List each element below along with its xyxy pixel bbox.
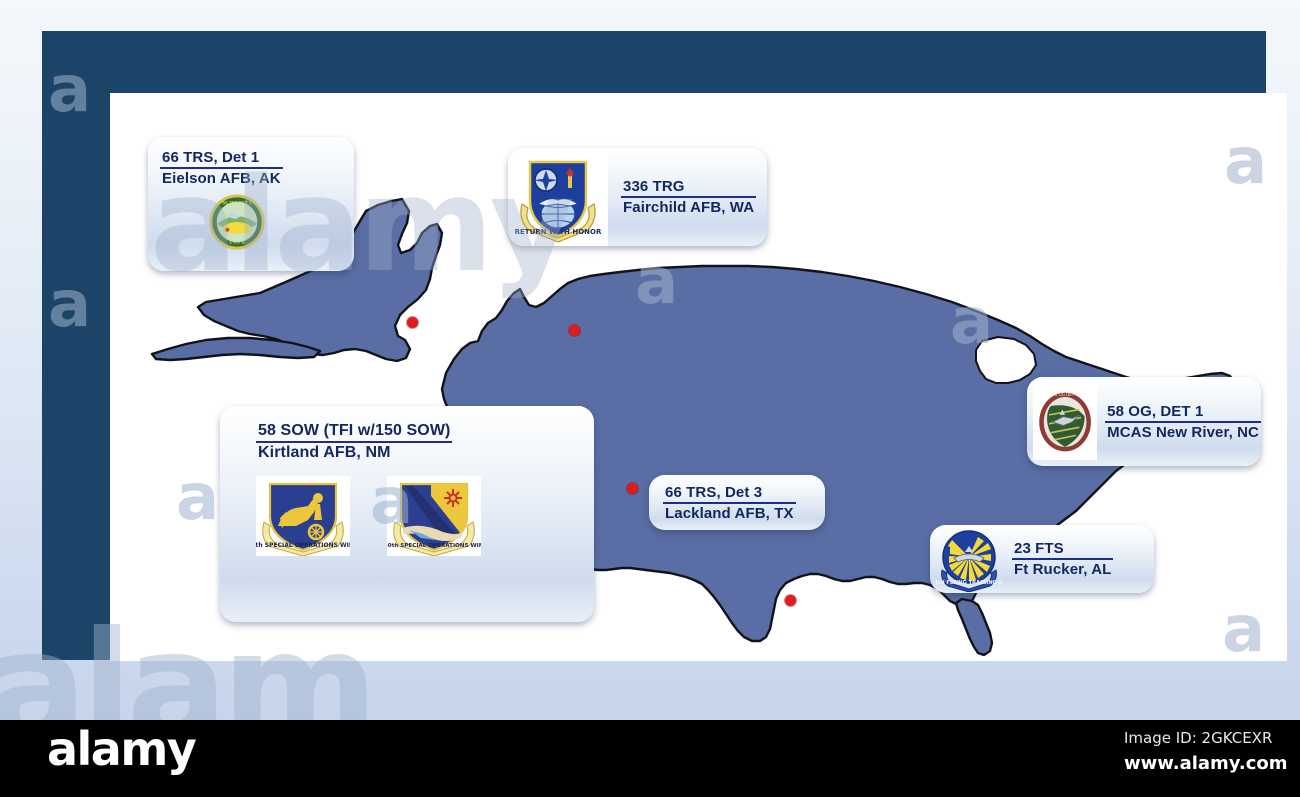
callout-eielson-text: 66 TRS, Det 1 Eielson AFB, AK bbox=[160, 149, 283, 187]
callout-kirtland-text: 58 SOW (TFI w/150 SOW) Kirtland AFB, NM bbox=[256, 422, 452, 462]
poster-frame: 66 TRS, Det 1 Eielson AFB, AK 66 TRS DET… bbox=[42, 31, 1266, 660]
svg-text:58th SPECIAL OPERATIONS WING: 58th SPECIAL OPERATIONS WING bbox=[256, 542, 350, 549]
alamy-url-label: www.alamy.com bbox=[1124, 753, 1288, 774]
callout-ft-rucker-location: Ft Rucker, AL bbox=[1012, 560, 1113, 578]
marker-eielson-afb-ak bbox=[407, 317, 418, 328]
image-id-label: Image ID: 2GKCEXR bbox=[1124, 729, 1272, 747]
poster-stage: 66 TRS, Det 1 Eielson AFB, AK 66 TRS DET… bbox=[0, 0, 1300, 720]
23-fts-emblem: 23rd FLYING TRAINING SQ bbox=[936, 526, 1002, 592]
callout-lackland-unit: 66 TRS, Det 3 bbox=[663, 484, 796, 504]
svg-text:E A F B: E A F B bbox=[229, 240, 244, 246]
callout-ft-rucker-unit: 23 FTS bbox=[1012, 540, 1113, 560]
alamy-logo: alamy bbox=[47, 726, 195, 772]
svg-text:58 OG DET 1: 58 OG DET 1 bbox=[1052, 392, 1078, 397]
callout-new-river-unit: 58 OG, DET 1 bbox=[1105, 403, 1261, 423]
svg-text:23rd FLYING TRAINING SQ: 23rd FLYING TRAINING SQ bbox=[936, 580, 1002, 586]
callout-kirtland-location: Kirtland AFB, NM bbox=[256, 443, 452, 462]
150th-special-operations-wing-emblem: 150th SPECIAL OPERATIONS WING bbox=[387, 476, 481, 556]
callout-kirtland-unit: 58 SOW (TFI w/150 SOW) bbox=[256, 422, 452, 443]
callout-fairchild-location: Fairchild AFB, WA bbox=[621, 198, 756, 216]
svg-text:RETURN WITH HONOR: RETURN WITH HONOR bbox=[515, 228, 602, 236]
callout-lackland-text: 66 TRS, Det 3 Lackland AFB, TX bbox=[663, 484, 796, 522]
callout-new-river-text: 58 OG, DET 1 MCAS New River, NC bbox=[1105, 403, 1261, 441]
marker-fairchild-afb-wa bbox=[569, 325, 580, 336]
callout-lackland[interactable]: 66 TRS, Det 3 Lackland AFB, TX bbox=[649, 475, 825, 530]
callout-new-river[interactable]: 58 OG DET 1 58 OG, DET 1 MCAS New River,… bbox=[1027, 377, 1261, 466]
callout-kirtland-emblems: 58th SPECIAL OPERATIONS WING bbox=[256, 476, 481, 556]
svg-text:150th SPECIAL OPERATIONS WING: 150th SPECIAL OPERATIONS WING bbox=[387, 543, 481, 549]
callout-fairchild-text: 336 TRG Fairchild AFB, WA bbox=[621, 178, 756, 216]
callout-fairchild[interactable]: RETURN WITH HONOR 336 TRG Fairchild AFB,… bbox=[508, 148, 767, 246]
callout-ft-rucker-text: 23 FTS Ft Rucker, AL bbox=[1012, 540, 1113, 578]
marker-kirtland-afb-nm bbox=[627, 483, 638, 494]
map-panel: 66 TRS, Det 1 Eielson AFB, AK 66 TRS DET… bbox=[110, 93, 1287, 661]
58th-special-operations-wing-emblem: 58th SPECIAL OPERATIONS WING bbox=[256, 476, 350, 556]
callout-eielson-unit: 66 TRS, Det 1 bbox=[160, 149, 283, 169]
callout-ft-rucker[interactable]: 23rd FLYING TRAINING SQ 23 FTS Ft Rucker… bbox=[930, 525, 1154, 593]
callout-eielson[interactable]: 66 TRS, Det 1 Eielson AFB, AK 66 TRS DET… bbox=[148, 137, 354, 271]
callout-new-river-location: MCAS New River, NC bbox=[1105, 423, 1261, 441]
66-trs-det-1-emblem: 66 TRS DET 1 E A F B bbox=[208, 193, 266, 251]
callout-lackland-location: Lackland AFB, TX bbox=[663, 504, 796, 522]
marker-lackland-afb-tx bbox=[785, 595, 796, 606]
336-trg-emblem: RETURN WITH HONOR bbox=[508, 148, 608, 246]
svg-text:66 TRS DET 1: 66 TRS DET 1 bbox=[222, 201, 252, 207]
callout-eielson-location: Eielson AFB, AK bbox=[160, 169, 283, 187]
callout-fairchild-unit: 336 TRG bbox=[621, 178, 756, 198]
map-florida bbox=[956, 599, 992, 655]
callout-kirtland[interactable]: 58 SOW (TFI w/150 SOW) Kirtland AFB, NM bbox=[220, 406, 594, 622]
58-og-det-1-emblem: 58 OG DET 1 bbox=[1033, 384, 1097, 460]
